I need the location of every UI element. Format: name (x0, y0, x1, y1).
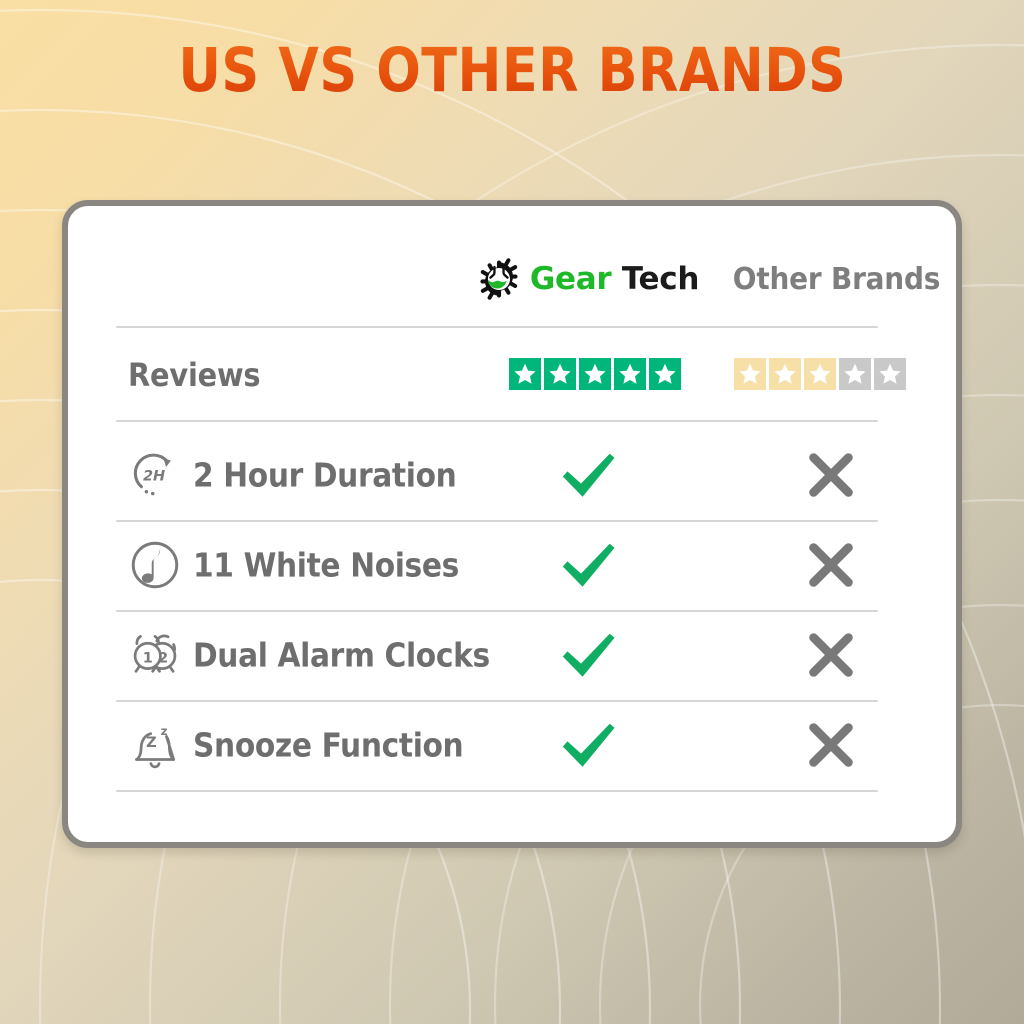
page-title-container: US VS OTHER BRANDS (0, 40, 1024, 101)
svg-text:2: 2 (158, 650, 168, 666)
comparison-header: Gear Tech Other Brands (68, 244, 956, 314)
brand-name-part2: Tech (622, 261, 699, 297)
table-row: 11 White Noises (68, 520, 956, 610)
check-icon (557, 444, 619, 506)
comparison-infographic: US VS OTHER BRANDS Gear Tech Other Brand… (0, 0, 1024, 1024)
gear-flask-icon (477, 257, 521, 301)
svg-text:Z: Z (146, 735, 157, 751)
cross-icon (800, 444, 862, 506)
comparison-card: Gear Tech Other Brands Reviews (62, 200, 962, 848)
feature-label: 11 White Noises (193, 546, 459, 585)
star-icon (804, 358, 836, 390)
cross-icon (800, 534, 862, 596)
star-icon (734, 358, 766, 390)
table-row-reviews: Reviews (68, 336, 956, 414)
music-note-circle-icon (126, 536, 184, 594)
table-row: 2H 2 Hour Duration (68, 430, 956, 520)
competitor-column-header: Other Brands (716, 244, 956, 314)
star-icon (649, 358, 681, 390)
check-icon (557, 714, 619, 776)
check-icon (557, 624, 619, 686)
divider-header (116, 326, 878, 328)
star-icon (579, 358, 611, 390)
bell-snooze-icon: Z z (126, 716, 184, 774)
table-row: Z z Snooze Function (68, 700, 956, 790)
star-icon (839, 358, 871, 390)
star-icon (544, 358, 576, 390)
dual-alarm-clock-icon: 1 2 (126, 626, 184, 684)
star-rating-ours (509, 358, 681, 390)
brand-name: Gear Tech (530, 261, 699, 297)
svg-text:z: z (161, 724, 168, 738)
reviews-label: Reviews (128, 356, 260, 394)
feature-label: 2 Hour Duration (193, 456, 456, 495)
brand-name-part1: Gear (530, 261, 611, 297)
star-rating-theirs (734, 358, 906, 390)
cross-icon (800, 714, 862, 776)
page-title: US VS OTHER BRANDS (178, 40, 846, 101)
brand-logo: Gear Tech (473, 244, 703, 314)
star-icon (509, 358, 541, 390)
divider-row-4 (116, 790, 878, 792)
table-row: 1 2 Dual Alarm Clocks (68, 610, 956, 700)
star-icon (874, 358, 906, 390)
feature-label: Dual Alarm Clocks (193, 636, 490, 675)
feature-label: Snooze Function (193, 726, 463, 765)
star-icon (614, 358, 646, 390)
svg-text:1: 1 (143, 650, 153, 666)
cross-icon (800, 624, 862, 686)
check-icon (557, 534, 619, 596)
star-icon (769, 358, 801, 390)
svg-text:2H: 2H (143, 468, 165, 484)
competitor-label: Other Brands (732, 262, 939, 297)
timer-2h-icon: 2H (126, 446, 184, 504)
divider-reviews (116, 420, 878, 422)
